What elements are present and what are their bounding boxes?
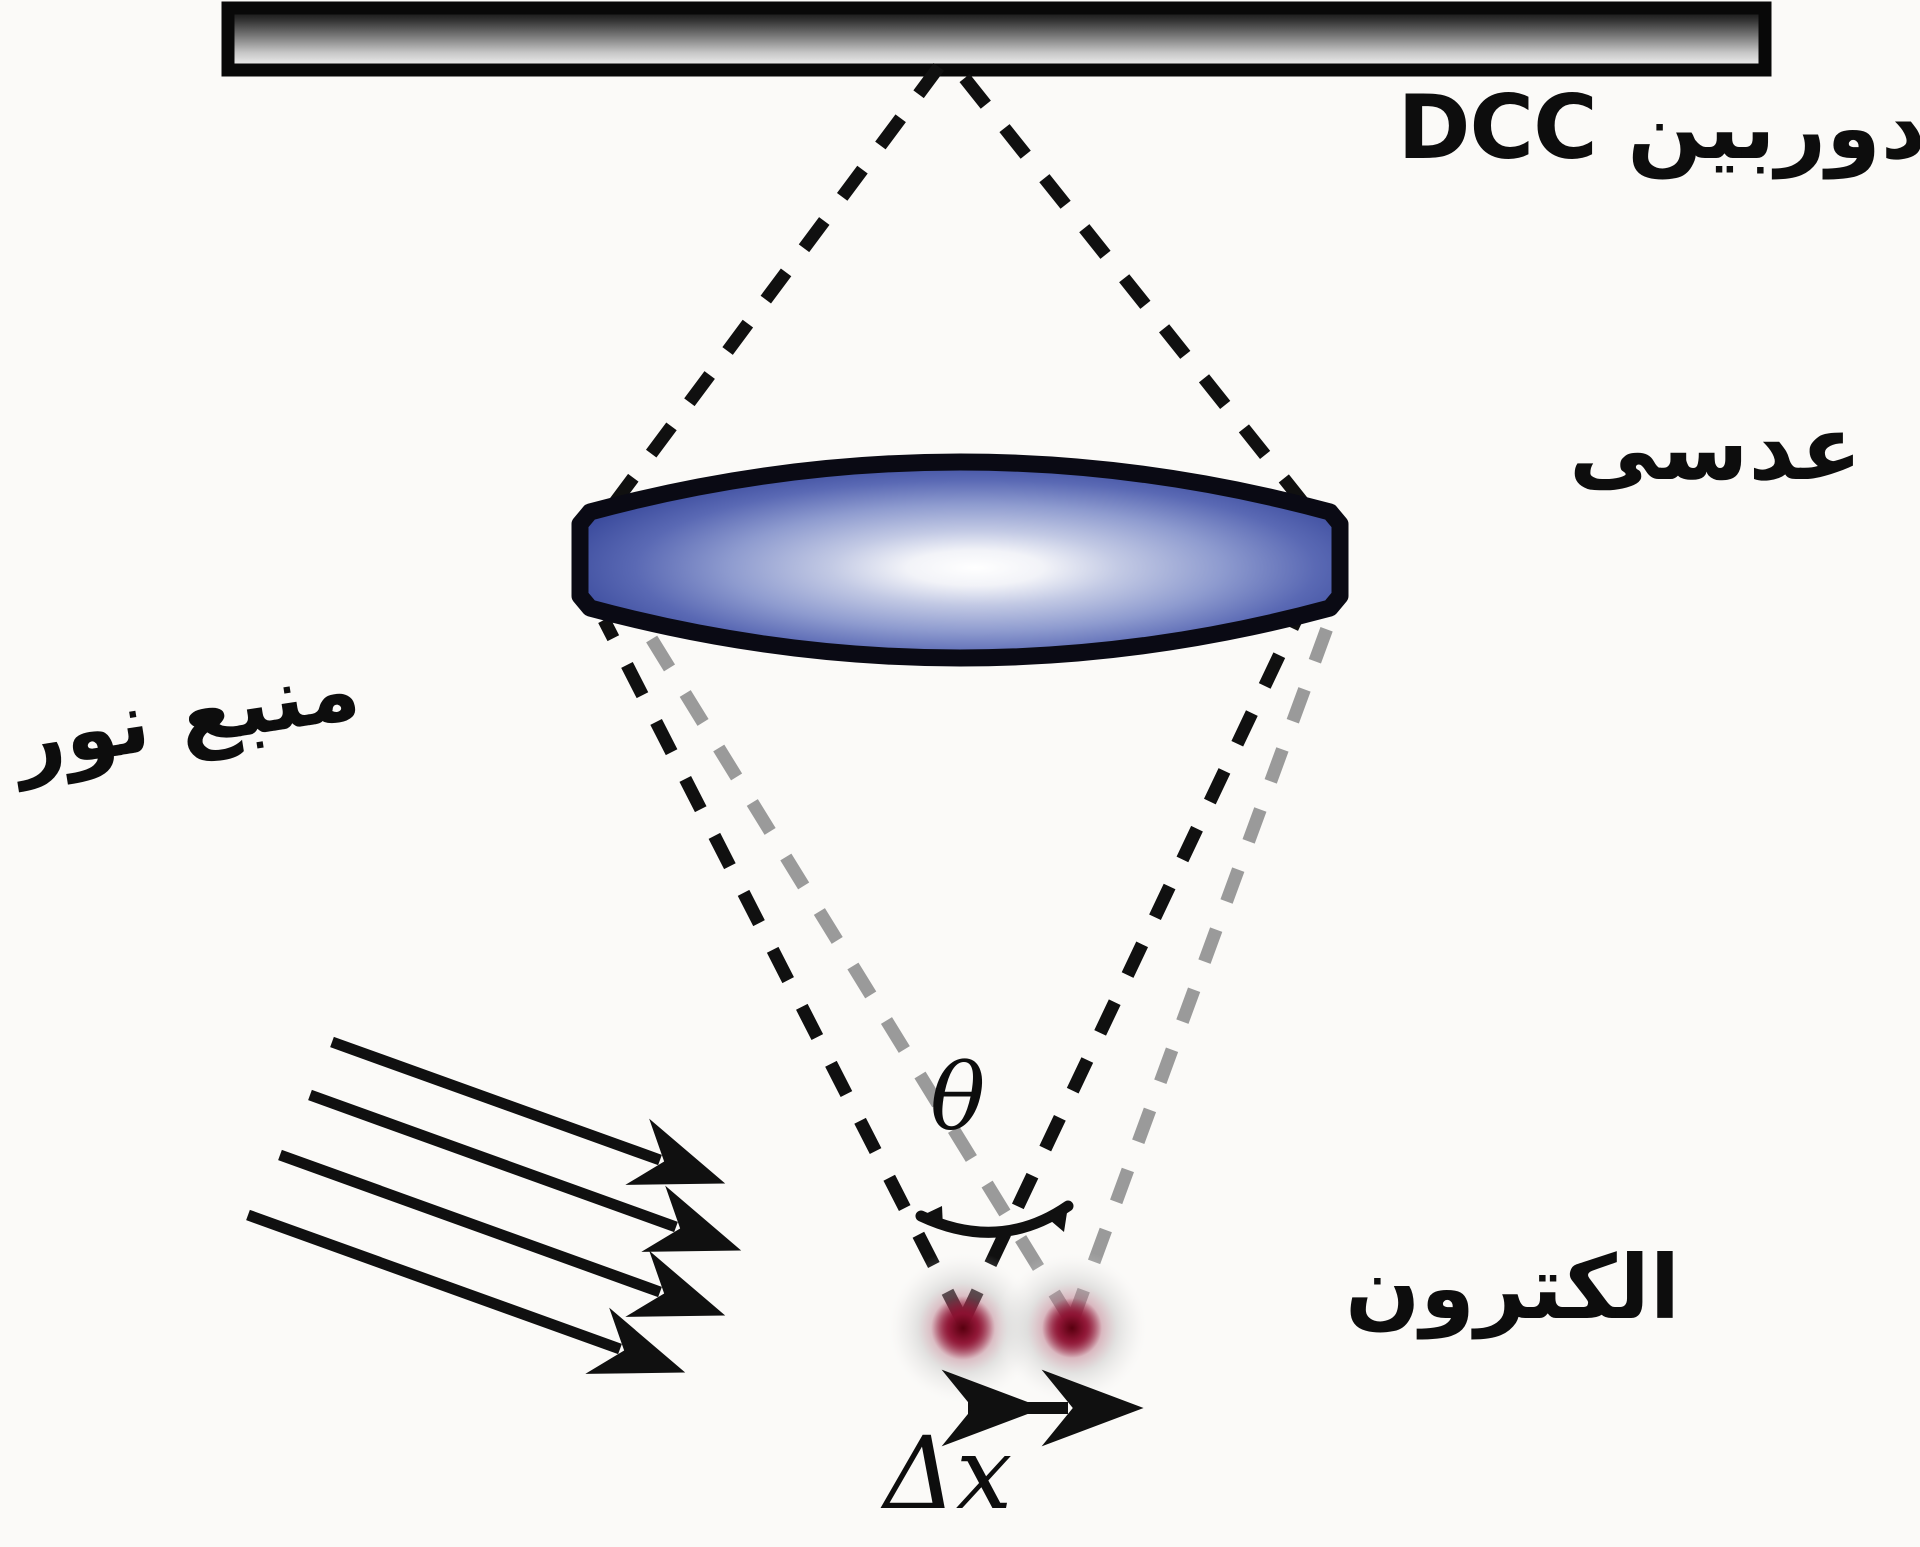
electron-blob-icon xyxy=(994,1250,1150,1406)
label-ccd-camera: دوربین CCD xyxy=(1397,84,1920,172)
light-ray-arrow-icon xyxy=(248,1042,676,1349)
label-angle-theta: θ xyxy=(930,1052,985,1144)
biconvex-lens-icon xyxy=(580,462,1340,658)
ccd-sensor-bar-icon xyxy=(228,8,1765,70)
label-lens: عدسی xyxy=(1569,404,1862,494)
figure-canvas: دوربین CCD عدسی منبع نور الکترون θ Δx xyxy=(0,0,1920,1547)
label-electron: الکترون xyxy=(1345,1244,1680,1332)
label-separation-delta-x: Δx xyxy=(884,1424,1013,1524)
dashed-ray-icon xyxy=(640,620,1330,1322)
angle-arc-icon xyxy=(921,1206,1068,1232)
